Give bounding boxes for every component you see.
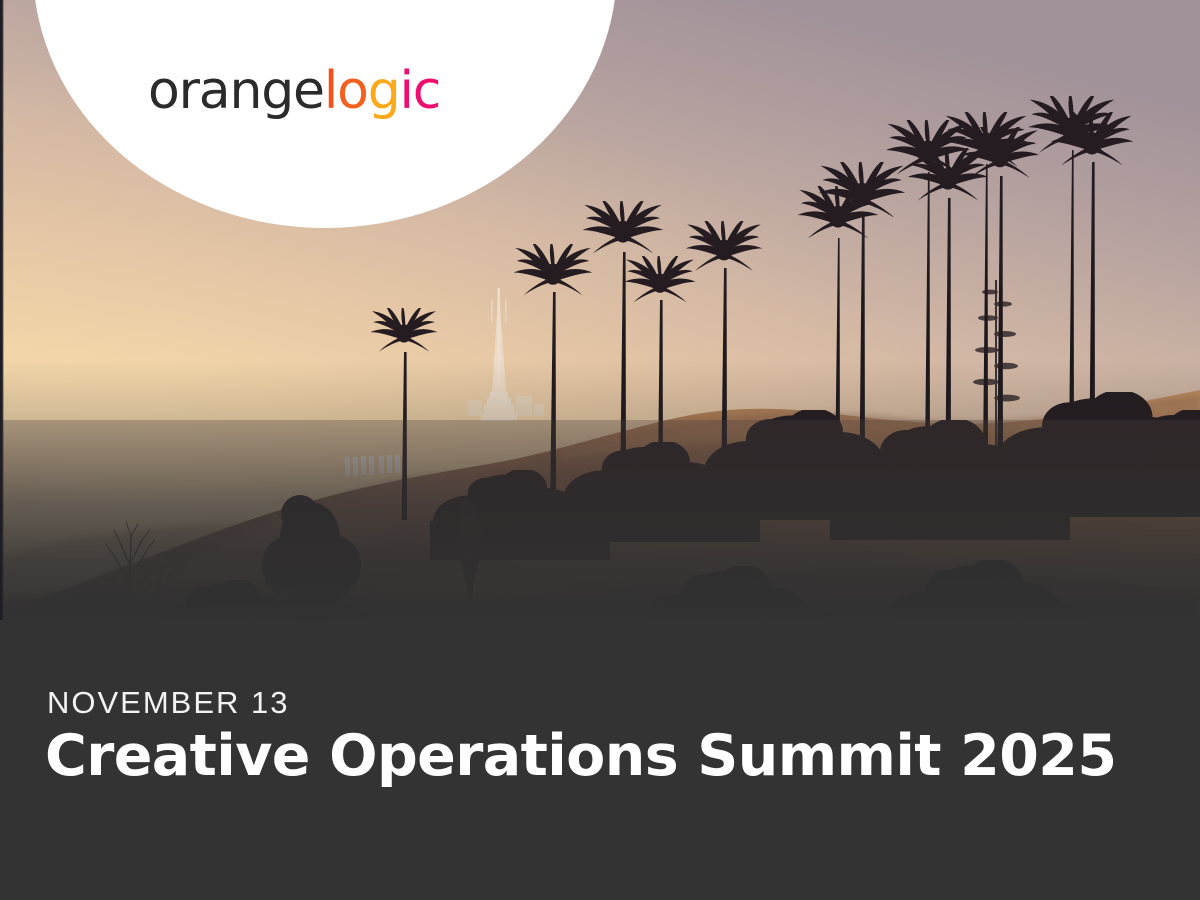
event-title: Creative Operations Summit 2025 xyxy=(45,725,1116,789)
logo-part-o: o xyxy=(337,61,368,121)
logo-part-i: i xyxy=(400,61,413,121)
logo-part-c: c xyxy=(413,61,440,121)
logo-part-g: g xyxy=(368,61,400,121)
logo-part-orange: orange xyxy=(148,61,324,121)
event-date: NOVEMBER 13 xyxy=(47,687,290,718)
logo-wordmark: orangelogic xyxy=(148,65,440,117)
event-promo-card: orangelogic NOVEMBER 13 Creative Operati… xyxy=(0,0,1200,900)
logo-part-l: l xyxy=(324,61,337,121)
brand-logo[interactable]: orangelogic xyxy=(148,61,440,121)
event-footer: NOVEMBER 13 Creative Operations Summit 2… xyxy=(0,620,1200,900)
photo-left-edge xyxy=(0,0,4,660)
